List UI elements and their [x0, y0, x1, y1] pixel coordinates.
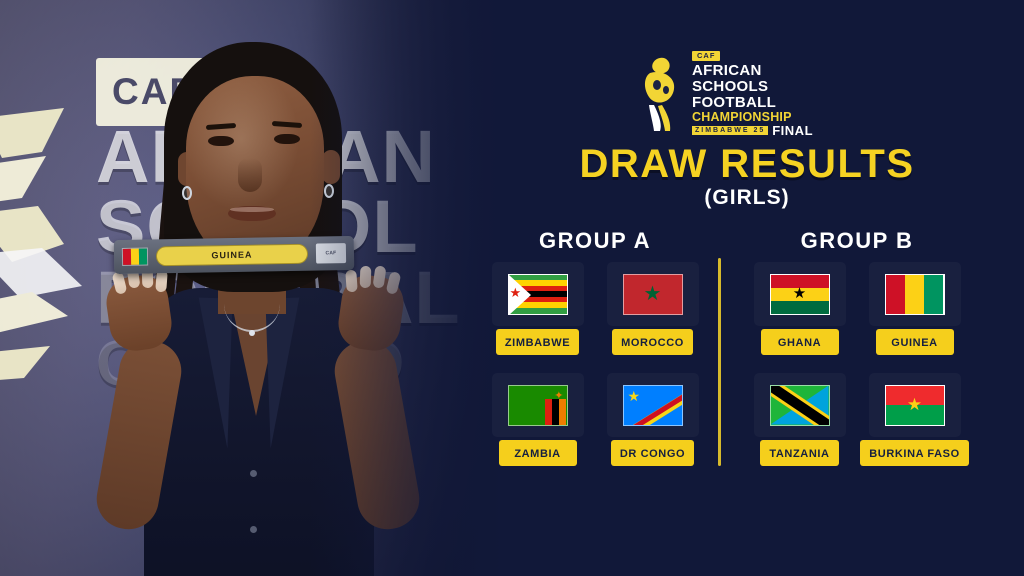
team-name-label: GUINEA: [891, 337, 937, 349]
team-name-pill: TANZANIA: [760, 440, 838, 466]
flag-tile: [754, 373, 846, 437]
team-name-label: BURKINA FASO: [869, 448, 960, 460]
team-name-label: MOROCCO: [621, 337, 684, 349]
group-b-heading: GROUP B: [742, 228, 972, 254]
tournament-line-3: FOOTBALL: [692, 95, 813, 110]
guinea-flag-icon: [122, 248, 148, 266]
team-card[interactable]: ✦ ZAMBIA: [480, 373, 595, 466]
team-card[interactable]: ★ BURKINA FASO: [857, 373, 972, 466]
flag-tile: ★: [754, 262, 846, 326]
tournament-logo: CAF AFRICAN SCHOOLS FOOTBALL CHAMPIONSHI…: [638, 52, 824, 136]
tournament-caf-tag: CAF: [692, 51, 720, 61]
team-name-label: ZIMBABWE: [505, 337, 570, 349]
tournament-host-row: ZIMBABWE 25 FINAL: [692, 124, 813, 137]
necklace-pendant: [249, 330, 255, 336]
flag-tile: ✦: [492, 373, 584, 437]
broadcast-graphic-stage: CAF AFRICAN SCHOOL FOOTBAL CHAMPIO: [0, 0, 1024, 576]
team-card[interactable]: ★ MOROCCO: [595, 262, 710, 355]
page-subtitle: (GIRLS): [470, 186, 1024, 210]
team-card[interactable]: ★ GHANA: [742, 262, 857, 355]
team-name-pill: DR CONGO: [611, 440, 694, 466]
mouth-highlight: [230, 207, 274, 212]
zimbabwe-flag-icon: ★: [508, 274, 568, 315]
tournament-line-1: AFRICAN: [692, 63, 813, 78]
eye-left: [208, 136, 234, 146]
blazer-button: [250, 470, 257, 477]
team-name-pill: GHANA: [761, 329, 839, 355]
earring-left: [182, 186, 192, 200]
blazer-button: [250, 526, 257, 533]
team-name-pill: ZAMBIA: [499, 440, 577, 466]
group-a-teams: ★ ZIMBABWE ★ MOROCCO: [480, 262, 710, 484]
blazer-lapel-left: [193, 297, 232, 448]
caf-african-schools-emblem-icon: [638, 55, 686, 133]
tournament-championship-label: CHAMPIONSHIP: [692, 111, 813, 124]
team-card[interactable]: ★ DR CONGO: [595, 373, 710, 466]
team-name-label: GHANA: [778, 337, 821, 349]
flag-tile: ★: [607, 373, 699, 437]
draw-card-country-label: GUINEA: [211, 250, 252, 261]
team-name-label: ZAMBIA: [514, 448, 560, 460]
ghana-flag-icon: ★: [770, 274, 830, 315]
team-name-pill: MOROCCO: [612, 329, 693, 355]
results-panel: CAF AFRICAN SCHOOLS FOOTBALL CHAMPIONSHI…: [470, 0, 1024, 576]
flag-tile: ★: [607, 262, 699, 326]
team-name-pill: BURKINA FASO: [860, 440, 969, 466]
group-a-heading: GROUP A: [480, 228, 710, 254]
team-name-pill: GUINEA: [876, 329, 954, 355]
morocco-flag-icon: ★: [623, 274, 683, 315]
page-title: DRAW RESULTS: [470, 142, 1024, 187]
tournament-host-year: ZIMBABWE 25: [692, 126, 768, 135]
team-name-pill: ZIMBABWE: [496, 329, 579, 355]
team-card[interactable]: ★ ZIMBABWE: [480, 262, 595, 355]
burkina-faso-flag-icon: ★: [885, 385, 945, 426]
presenter-photo: CAF AFRICAN SCHOOL FOOTBAL CHAMPIO: [0, 0, 520, 576]
flag-tile: ★: [869, 373, 961, 437]
tournament-line-2: SCHOOLS: [692, 79, 813, 94]
group-b-teams: ★ GHANA GUINEA: [742, 262, 972, 484]
zambia-flag-icon: ✦: [508, 385, 568, 426]
tanzania-flag-icon: [770, 385, 830, 426]
guinea-flag-icon: [885, 274, 945, 315]
dr-congo-flag-icon: ★: [623, 385, 683, 426]
nose: [238, 158, 262, 192]
flag-tile: [869, 262, 961, 326]
team-card[interactable]: GUINEA: [857, 262, 972, 355]
group-divider: [718, 258, 721, 466]
eye-right: [274, 134, 300, 144]
tournament-logo-text: CAF AFRICAN SCHOOLS FOOTBALL CHAMPIONSHI…: [692, 51, 813, 137]
flag-tile: ★: [492, 262, 584, 326]
team-name-label: TANZANIA: [769, 448, 829, 460]
tournament-final-label: FINAL: [772, 124, 813, 137]
draw-card-country-pill: GUINEA: [156, 244, 308, 267]
team-card[interactable]: TANZANIA: [742, 373, 857, 466]
team-name-label: DR CONGO: [620, 448, 685, 460]
